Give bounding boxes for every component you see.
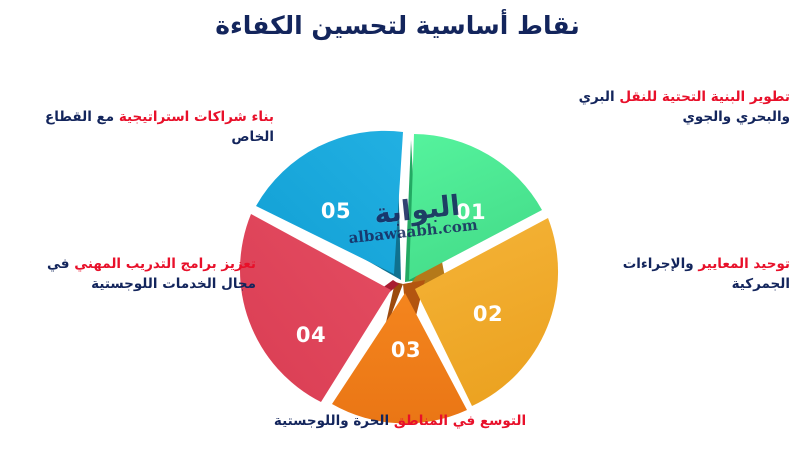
callout-01-line2: والبحري والجوي xyxy=(683,109,790,125)
page-title: نقاط أساسية لتحسين الكفاءة xyxy=(0,10,795,41)
callout-02-line1-red: توحيد المعايير xyxy=(698,256,790,272)
callout-label-01: تطوير البنية التحتية للنقل البري والبحري… xyxy=(540,88,790,127)
slice-04-number: 04 xyxy=(296,323,326,347)
callout-02-line1-navy: والإجراءات xyxy=(623,256,699,272)
infographic-root: نقاط أساسية لتحسين الكفاءة xyxy=(0,0,795,452)
callout-02-line2: الجمركية xyxy=(732,276,790,292)
callout-01-line1-red2: للنقل xyxy=(619,89,657,105)
callout-01-line1-navy: البري xyxy=(579,89,620,105)
callout-05-line2: الخاص xyxy=(231,129,274,145)
callout-label-05: بناء شراكات استراتيجية مع القطاع الخاص xyxy=(6,108,274,147)
callout-label-03: التوسع في المناطق الحرة واللوجستية xyxy=(240,412,560,432)
slice-02-number: 02 xyxy=(473,302,503,326)
callout-05-line1-navy: مع القطاع xyxy=(45,109,119,125)
pie-chart: 01 02 03 04 xyxy=(243,68,555,398)
slice-03-number: 03 xyxy=(391,338,421,362)
callout-03-line1-navy: الحرة واللوجستية xyxy=(274,413,394,429)
slice-01-number: 01 xyxy=(456,200,486,224)
callout-05-line1-red: بناء شراكات استراتيجية xyxy=(119,109,274,125)
slice-05-number: 05 xyxy=(321,199,351,223)
callout-01-line1-red: تطوير البنية التحتية xyxy=(657,89,790,105)
callout-03-line1-red: التوسع في المناطق xyxy=(394,413,526,429)
callout-04-line1-navy: في xyxy=(47,256,74,272)
callout-label-04: تعزيز برامج التدريب المهني في مجال الخدم… xyxy=(8,255,256,294)
pie-chart-svg: 01 02 03 04 xyxy=(243,68,555,398)
callout-label-02: توحيد المعايير والإجراءات الجمركية xyxy=(575,255,790,294)
callout-04-line2: مجال الخدمات اللوجستية xyxy=(91,276,256,292)
callout-04-line1-red: تعزيز برامج التدريب المهني xyxy=(74,256,256,272)
